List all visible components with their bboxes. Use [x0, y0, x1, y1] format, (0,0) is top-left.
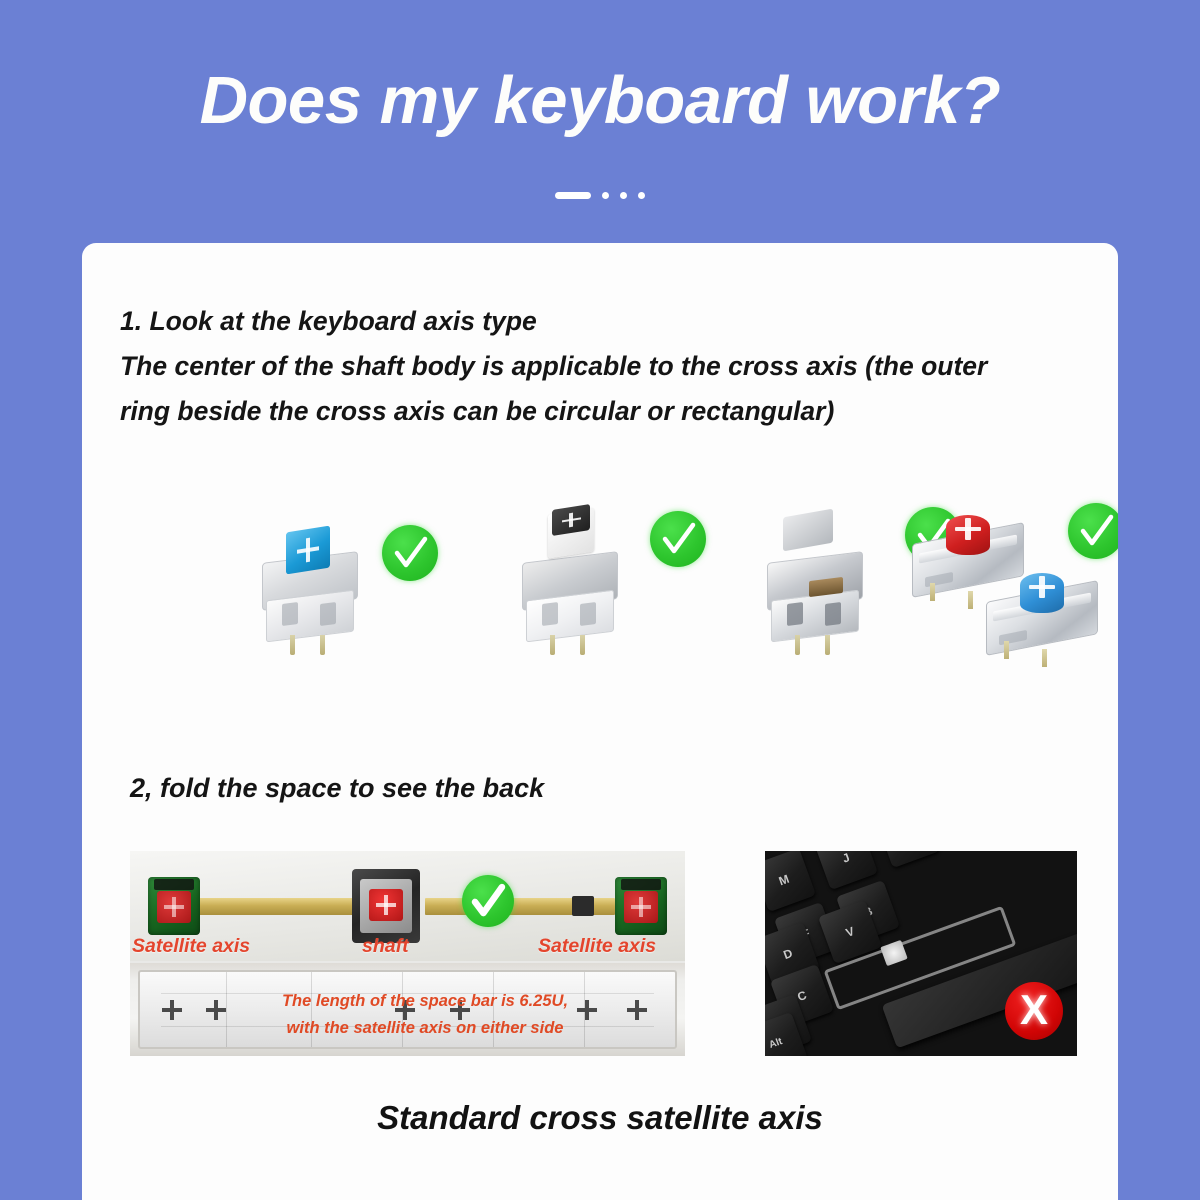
switch-pin-right: [580, 635, 585, 655]
shaft-cross-stem: [369, 889, 403, 921]
low-profile-pin-right: [968, 591, 973, 609]
switch-pin-right: [320, 635, 325, 655]
key-H: H: [876, 851, 940, 868]
switch-slot-right: [320, 602, 336, 626]
photo-black-keyboard: M J H N F B D V C X Alt X: [765, 851, 1077, 1056]
low-profile-pin-right: [1042, 649, 1047, 667]
satellite-axis-right: [615, 877, 667, 935]
step-2-heading: 2, fold the space to see the back: [130, 773, 544, 804]
pagination-indicator[interactable]: [0, 192, 1200, 199]
mx-switch-body-blue: [252, 523, 372, 663]
check-badge-spacebar: [462, 875, 514, 927]
step-1-text: 1. Look at the keyboard axis type The ce…: [120, 299, 1070, 434]
spacebar-note-line-1: The length of the space bar is 6.25U,: [282, 992, 568, 1010]
switch-pin-right: [825, 635, 830, 655]
cross-vertical: [384, 895, 388, 915]
check-icon: [462, 875, 514, 927]
content-card: 1. Look at the keyboard axis type The ce…: [82, 243, 1118, 1200]
spacebar-note: The length of the space bar is 6.25U, wi…: [260, 988, 590, 1042]
check-icon: [382, 525, 438, 581]
mount-cross-2: [206, 1000, 226, 1020]
spacebar-note-line-2: with the satellite axis on either side: [287, 1019, 564, 1037]
pagination-dot-3[interactable]: [638, 192, 645, 199]
satellite-axis-left: [148, 877, 200, 935]
stabilizer-cross-stem: [157, 891, 191, 923]
cross-cut-vertical: [965, 518, 971, 540]
pagination-active-bar[interactable]: [555, 192, 591, 199]
mount-cross-6: [627, 1000, 647, 1020]
shaft-switch: [352, 869, 420, 943]
label-satellite-axis-left: Satellite axis: [132, 935, 250, 958]
switch-slot-left: [542, 602, 558, 626]
stabilizer-clip: [621, 879, 661, 890]
label-shaft: shaft: [362, 935, 409, 958]
switch-slot-right: [580, 602, 596, 626]
check-icon: [650, 511, 706, 567]
spacebar-underside: The length of the space bar is 6.25U, wi…: [138, 970, 677, 1049]
photo-spacebar-underside: The length of the space bar is 6.25U, wi…: [130, 963, 685, 1056]
footer-caption: Standard cross satellite axis: [82, 1099, 1118, 1137]
check-badge-4: [1068, 503, 1118, 559]
round-cross-stem-red: [946, 515, 990, 555]
switch-slot-left: [282, 602, 298, 626]
switch-example-low-profile-pair: [902, 493, 1118, 683]
check-badge-2: [650, 511, 706, 567]
step-1-line-1: 1. Look at the keyboard axis type: [120, 299, 1070, 344]
cross-stem-vertical: [569, 512, 573, 527]
round-cross-stem-blue: [1020, 573, 1064, 613]
cross-stem-blue: [286, 526, 330, 575]
switch-slot-left: [787, 602, 803, 626]
cross-cut: [1029, 576, 1055, 598]
step-1-line-2: The center of the shaft body is applicab…: [120, 344, 1070, 389]
photo-stabilizer-bar: Satellite axis shaft Satellite axis: [130, 851, 685, 961]
check-icon: [1068, 503, 1118, 559]
stabilizer-clip: [154, 879, 194, 890]
label-satellite-axis-right: Satellite axis: [538, 935, 656, 958]
check-badge-1: [382, 525, 438, 581]
page-title: Does my keyboard work?: [0, 62, 1200, 139]
step-1-line-3: ring beside the cross axis can be circul…: [120, 389, 1070, 434]
switch-slot-right: [825, 602, 841, 626]
pcb-chip: [572, 896, 594, 916]
mount-cross-1: [162, 1000, 182, 1020]
low-profile-pin-left: [930, 583, 935, 601]
photo-spacebar-back: Satellite axis shaft Satellite axis: [130, 851, 685, 1056]
cross-stem-vertical: [306, 538, 310, 562]
switch-pin-left: [550, 635, 555, 655]
x-badge: X: [1005, 982, 1063, 1040]
stabilizer-cross-stem: [624, 891, 658, 923]
switch-examples-row: [112, 483, 1092, 683]
cross-vertical: [172, 897, 176, 916]
cross-vertical: [639, 897, 643, 916]
pagination-dot-2[interactable]: [620, 192, 627, 199]
cross-cut-vertical: [1039, 576, 1045, 598]
pagination-dot-1[interactable]: [602, 192, 609, 199]
stabilizer-wire-left: [192, 898, 357, 915]
switch-pin-left: [795, 635, 800, 655]
switch-pin-left: [290, 635, 295, 655]
low-profile-pin-left: [1004, 641, 1009, 659]
cross-cut: [955, 518, 981, 540]
key-M: M: [765, 851, 816, 912]
